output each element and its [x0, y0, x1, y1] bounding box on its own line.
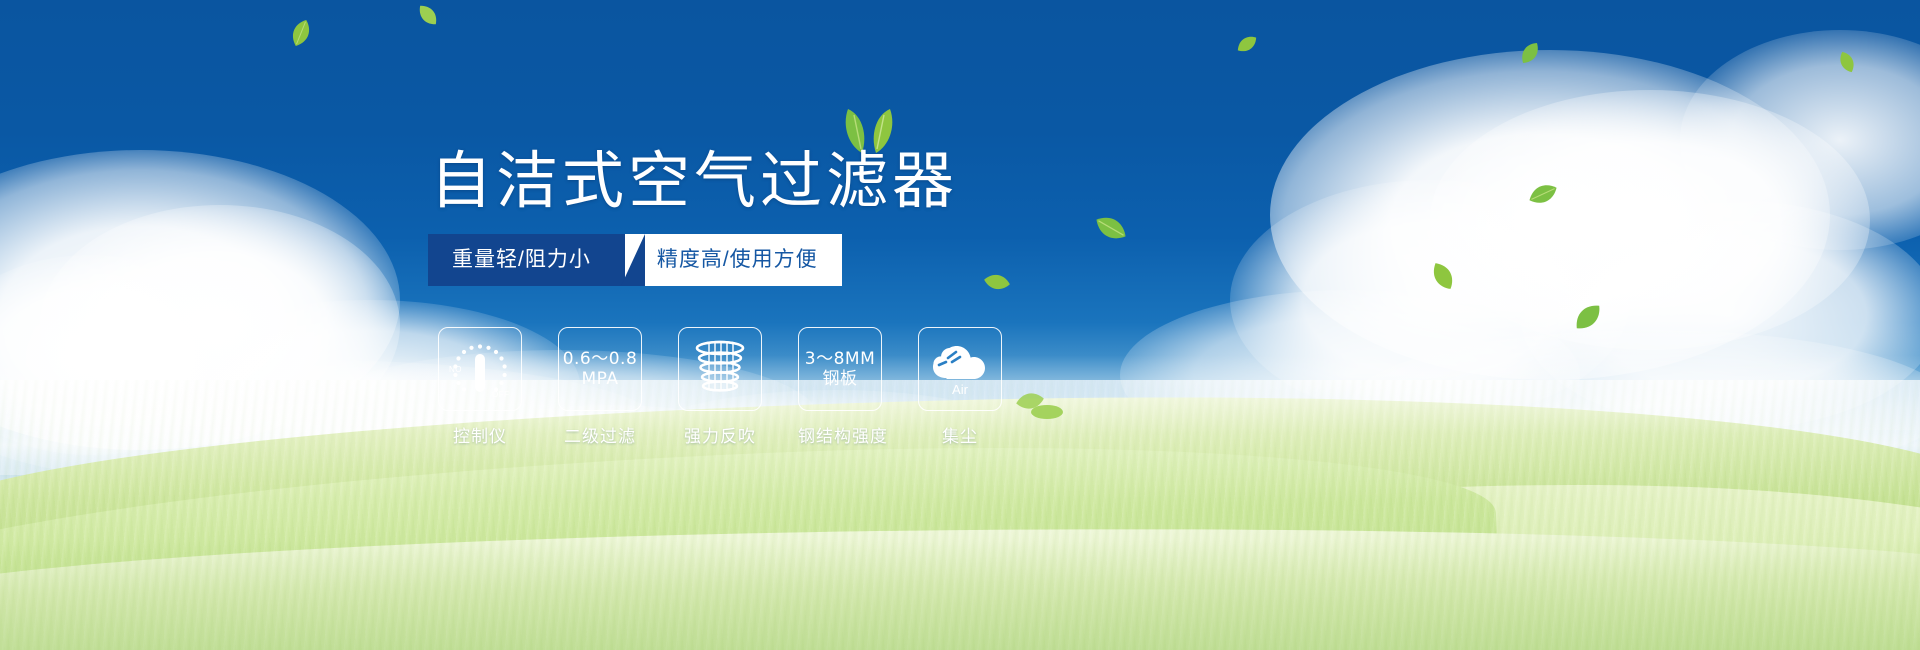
feature-label: 集尘: [918, 422, 1002, 447]
coil-filter-icon: [691, 338, 749, 400]
feature-item-dust[interactable]: Air 集尘: [918, 327, 1002, 447]
feature-item-steel[interactable]: 3～8MM 钢板 钢结构强度: [798, 327, 882, 447]
badge-primary[interactable]: 重量轻/阻力小: [428, 234, 625, 286]
pressure-text-icon: 0.6～0.8 MPA: [563, 349, 638, 389]
feature-item-controller[interactable]: NO OFF 控制仪: [438, 327, 522, 447]
feature-icon-box: NO OFF: [438, 327, 522, 411]
feature-label: 强力反吹: [678, 422, 762, 447]
feature-label: 二级过滤: [558, 422, 642, 447]
feature-item-backblow[interactable]: 强力反吹: [678, 327, 762, 447]
svg-text:OFF: OFF: [492, 390, 510, 399]
gauge-dial-icon: NO OFF: [447, 338, 513, 400]
hero-banner: 自洁式空气过滤器 重量轻/阻力小 精度高/使用方便: [0, 0, 1920, 650]
page-title: 自洁式空气过滤器: [430, 130, 958, 220]
steel-plate-text-icon: 3～8MM 钢板: [805, 349, 875, 389]
pressure-line-2: MPA: [563, 369, 638, 389]
feature-icon-row: NO OFF 控制仪 0.6～0.8 MPA 二级过滤: [438, 327, 1002, 447]
feature-label: 控制仪: [438, 422, 522, 447]
feature-label: 钢结构强度: [798, 422, 882, 447]
svg-text:NO: NO: [449, 365, 462, 374]
steel-line-2: 钢板: [805, 369, 875, 389]
feature-icon-box: Air: [918, 327, 1002, 411]
cloud-air-icon: Air: [926, 338, 994, 400]
feature-item-pressure[interactable]: 0.6～0.8 MPA 二级过滤: [558, 327, 642, 447]
badge-secondary[interactable]: 精度高/使用方便: [619, 234, 842, 286]
steel-line-1: 3～8MM: [805, 349, 875, 369]
pressure-line-1: 0.6～0.8: [563, 349, 638, 369]
feature-icon-box: 0.6～0.8 MPA: [558, 327, 642, 411]
feature-icon-box: 3～8MM 钢板: [798, 327, 882, 411]
feature-icon-box: [678, 327, 762, 411]
tagline-badges: 重量轻/阻力小 精度高/使用方便: [428, 234, 842, 286]
banner-content: 自洁式空气过滤器 重量轻/阻力小 精度高/使用方便: [0, 0, 1920, 650]
cloud-air-label: Air: [952, 382, 969, 397]
